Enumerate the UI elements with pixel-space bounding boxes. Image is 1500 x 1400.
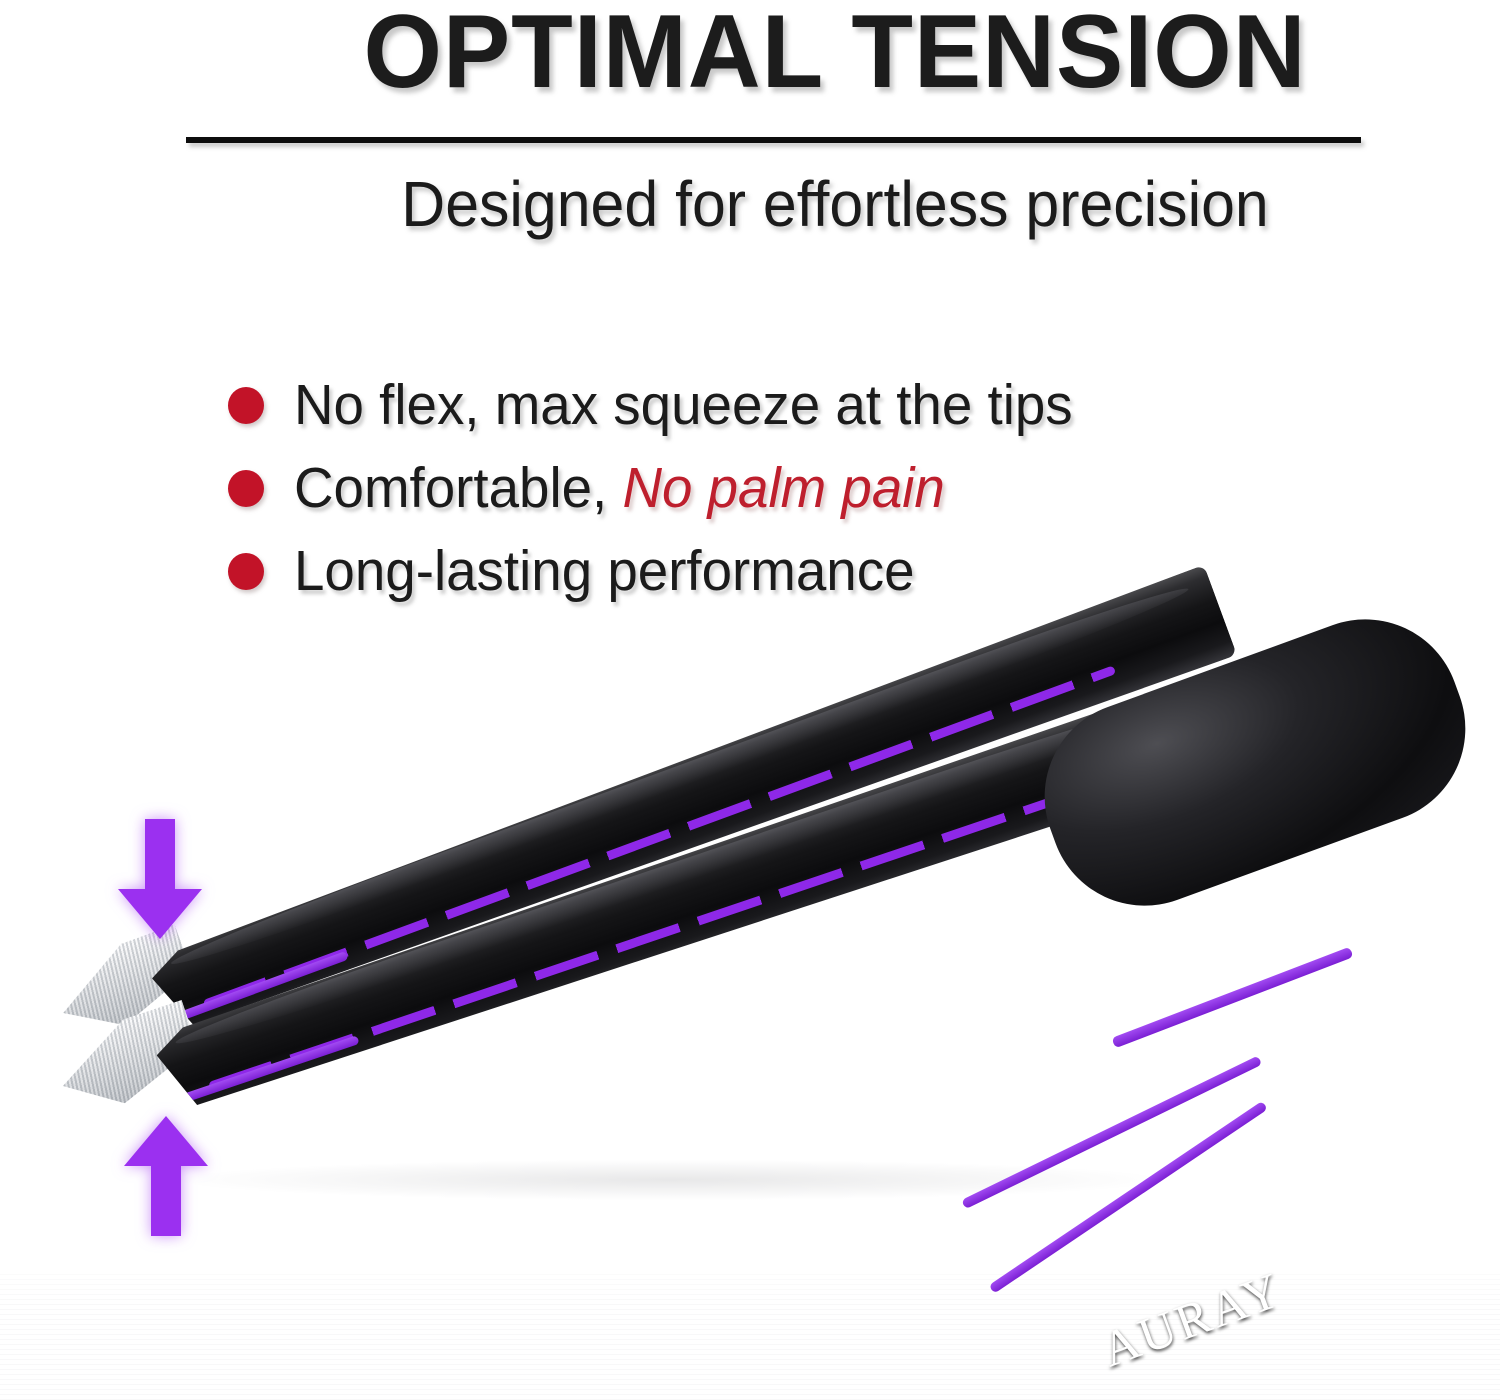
list-item-label: No flex, max squeeze at the tips (294, 377, 1073, 434)
list-item-text: No flex, max squeeze at the tips (294, 373, 1073, 437)
bullet-dot-icon (228, 387, 264, 424)
bullet-dot-icon (228, 553, 264, 590)
pressure-arrow-down-icon (112, 815, 208, 948)
list-item-label: Long-lasting performance (294, 543, 915, 600)
marketing-panel: OPTIMAL TENSION Designed for effortless … (0, 0, 1500, 1400)
subtitle: Designed for effortless precision (222, 167, 1448, 243)
divider-rule (186, 137, 1361, 143)
list-item-label: Comfortable, No palm pain (294, 460, 945, 517)
list-item-accent-text: No palm pain (622, 456, 944, 520)
list-item: Comfortable, No palm pain (228, 451, 1378, 526)
tweezers-illustration: AURAY (0, 600, 1500, 1300)
list-item-text: Long-lasting performance (294, 539, 915, 603)
handle-base-stripe (1111, 947, 1353, 1049)
bullet-dot-icon (228, 470, 264, 507)
headline: OPTIMAL TENSION (209, 0, 1460, 110)
list-item-text: Comfortable, (294, 456, 622, 520)
product-photo: AURAY (0, 600, 1500, 1300)
pressure-arrow-up-icon (118, 1112, 214, 1245)
list-item: No flex, max squeeze at the tips (228, 368, 1378, 443)
brand-logo-text: AURAY (1094, 1260, 1291, 1379)
